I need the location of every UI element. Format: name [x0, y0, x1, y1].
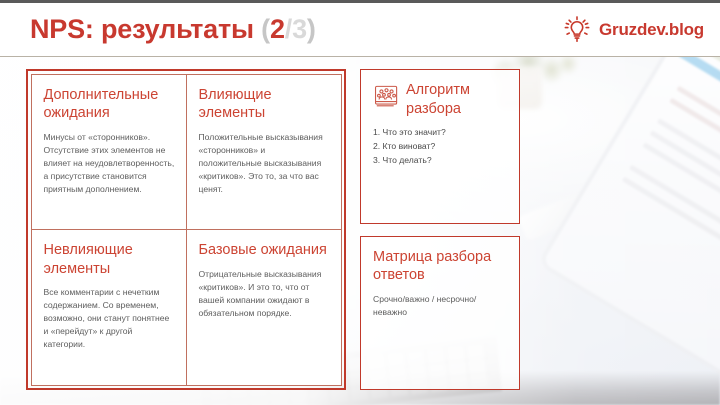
card-title: Матрица разбора ответов: [373, 248, 508, 285]
page-title-separator: /: [285, 14, 292, 44]
card-title: Дополнительные ожидания: [44, 86, 175, 123]
card-body: Все комментарии с нечетким содержанием. …: [44, 286, 175, 351]
card-influencing-elements[interactable]: Влияющие элементы Положительные высказыв…: [186, 74, 342, 231]
card-title: Невлияющие элементы: [44, 241, 175, 278]
brand-name: Gruzdev.blog: [599, 20, 704, 40]
card-body: Положительные высказывания «сторонников»…: [199, 131, 330, 196]
card-body: Срочно/важно / несрочно/неважно: [373, 293, 508, 319]
slide-header: NPS: результаты (2/3): [0, 0, 720, 57]
card-non-influencing-elements[interactable]: Невлияющие элементы Все комментарии с не…: [31, 229, 187, 386]
card-additional-expectations[interactable]: Дополнительные ожидания Минусы от «сторо…: [31, 74, 187, 231]
page-title-paren-close: ): [307, 14, 316, 44]
card-body: Минусы от «сторонников». Отсутствие этих…: [44, 131, 175, 196]
list-item: 2. Кто виноват?: [373, 140, 508, 154]
card-title: Алгоритм разбора: [406, 81, 508, 118]
page-title-main: NPS: результаты: [30, 14, 254, 44]
list-item: 1. Что это значит?: [373, 126, 508, 140]
list-item: 3. Что делать?: [373, 154, 508, 168]
page-title-paren-open: (: [261, 14, 270, 44]
lightbulb-icon: [562, 15, 592, 45]
card-title: Базовые ожидания: [199, 241, 327, 260]
matrix-card-grid: Дополнительные ожидания Минусы от «сторо…: [31, 74, 341, 385]
slide-content: Дополнительные ожидания Минусы от «сторо…: [0, 57, 720, 405]
page-title: NPS: результаты (2/3): [30, 14, 316, 45]
card-basic-expectations[interactable]: Базовые ожидания Отрицательные высказыва…: [186, 229, 342, 386]
page-title-current: 2: [270, 14, 285, 44]
brand-logo[interactable]: Gruzdev.blog: [562, 15, 704, 45]
algorithm-steps-list: 1. Что это значит? 2. Кто виноват? 3. Чт…: [373, 126, 508, 168]
audience-board-icon: [373, 83, 400, 110]
side-card-group: Алгоритм разбора 1. Что это значит? 2. К…: [360, 69, 520, 390]
card-analysis-algorithm[interactable]: Алгоритм разбора 1. Что это значит? 2. К…: [360, 69, 520, 224]
card-answer-matrix[interactable]: Матрица разбора ответов Срочно/важно / н…: [360, 236, 520, 391]
page-title-total: 3: [292, 14, 307, 44]
card-body: Отрицательные высказывания «критиков». И…: [199, 268, 330, 320]
card-title: Влияющие элементы: [199, 86, 330, 123]
slide-canvas: NPS: результаты (2/3): [0, 0, 720, 405]
